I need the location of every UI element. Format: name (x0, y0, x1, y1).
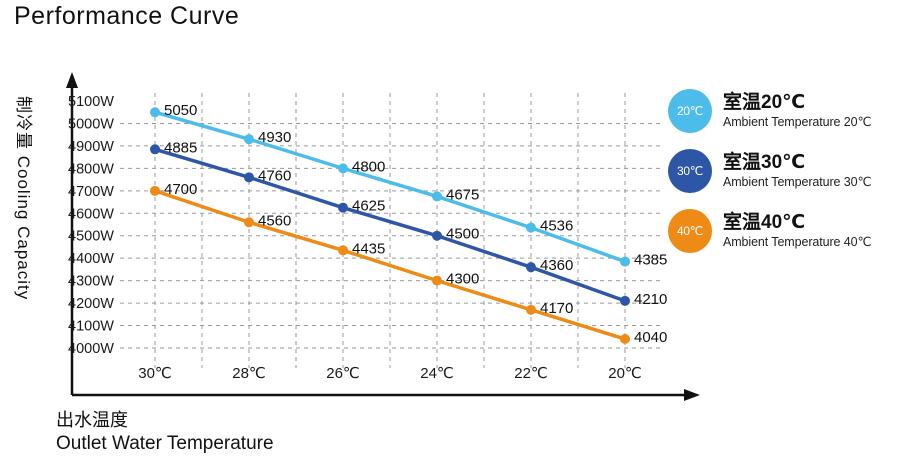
data-point-label: 4170 (540, 300, 573, 317)
data-point-marker (526, 223, 536, 233)
x-tick-label: 26℃ (326, 365, 360, 382)
data-point-label: 4536 (540, 218, 573, 235)
y-tick-label: 4300W (68, 274, 114, 290)
data-point-marker (244, 217, 254, 227)
data-point-label: 4210 (634, 291, 667, 308)
legend-item: 20℃室温20℃Ambient Temperature 20℃ (668, 82, 906, 139)
x-tick-label: 22℃ (514, 365, 548, 382)
data-point-label: 4800 (352, 158, 385, 175)
data-point-marker (150, 186, 160, 196)
data-point-marker (150, 144, 160, 154)
legend-label-cn: 室温30℃ (723, 152, 871, 173)
y-tick-label: 4700W (68, 184, 114, 200)
data-point-marker (338, 203, 348, 213)
data-point-marker (620, 296, 630, 306)
data-point-label: 4500 (446, 226, 479, 243)
legend-badge-icon: 40℃ (668, 209, 712, 253)
data-point-marker (244, 134, 254, 144)
data-series: 505049304800467545364385 (150, 102, 667, 268)
legend-item: 30℃室温30℃Ambient Temperature 30℃ (668, 142, 906, 199)
data-point-label: 4675 (446, 186, 479, 203)
legend-text: 室温20℃Ambient Temperature 20℃ (723, 92, 871, 129)
x-tick-label: 30℃ (138, 365, 172, 382)
data-point-label: 4930 (258, 129, 291, 146)
y-tick-label: 4800W (68, 161, 114, 177)
data-point-label: 4435 (352, 240, 385, 257)
axis-lines (66, 72, 700, 401)
legend-label-en: Ambient Temperature 40℃ (723, 235, 871, 249)
legend-label-en: Ambient Temperature 20℃ (723, 115, 871, 129)
y-tick-label: 4900W (68, 139, 114, 155)
data-point-label: 4385 (634, 252, 667, 269)
data-series: 488547604625450043604210 (150, 139, 667, 308)
legend-badge-icon: 30℃ (668, 149, 712, 193)
data-point-marker (432, 191, 442, 201)
data-point-label: 4040 (634, 329, 667, 346)
data-point-label: 5050 (164, 102, 197, 119)
legend-label-en: Ambient Temperature 30℃ (723, 175, 871, 189)
data-point-marker (338, 163, 348, 173)
data-point-marker (432, 276, 442, 286)
legend-text: 室温40℃Ambient Temperature 40℃ (723, 212, 871, 249)
legend-badge-icon: 20℃ (668, 89, 712, 133)
legend-item: 40℃室温40℃Ambient Temperature 40℃ (668, 202, 906, 259)
y-tick-label: 5000W (68, 116, 114, 132)
x-axis-title: 出水温度 Outlet Water Temperature (56, 409, 274, 456)
grid-lines (120, 93, 660, 368)
data-point-marker (526, 262, 536, 272)
y-tick-label: 4100W (68, 319, 114, 335)
y-tick-labels: 5100W5000W4900W4800W4700W4600W4500W4400W… (68, 94, 114, 357)
x-axis-title-en: Outlet Water Temperature (56, 432, 274, 456)
data-point-label: 4360 (540, 257, 573, 274)
legend-label-cn: 室温40℃ (723, 212, 871, 233)
y-tick-label: 4000W (68, 341, 114, 357)
y-tick-label: 4500W (68, 229, 114, 245)
data-point-marker (432, 231, 442, 241)
legend: 20℃室温20℃Ambient Temperature 20℃30℃室温30℃A… (668, 82, 906, 262)
y-axis-title: 制冷量 Cooling Capacity (13, 96, 38, 396)
data-point-label: 4560 (258, 212, 291, 229)
x-tick-label: 24℃ (420, 365, 454, 382)
y-tick-label: 4200W (68, 296, 114, 312)
data-point-marker (244, 172, 254, 182)
y-tick-label: 5100W (68, 94, 114, 110)
y-tick-label: 4600W (68, 206, 114, 222)
data-point-marker (620, 257, 630, 267)
x-tick-label: 20℃ (608, 365, 642, 382)
legend-label-cn: 室温20℃ (723, 92, 871, 113)
data-point-label: 4885 (164, 139, 197, 156)
data-point-marker (620, 334, 630, 344)
data-series: 470045604435430041704040 (150, 181, 667, 346)
data-point-label: 4760 (258, 167, 291, 184)
data-point-label: 4625 (352, 198, 385, 215)
y-tick-label: 4400W (68, 251, 114, 267)
x-axis-title-cn: 出水温度 (56, 409, 274, 432)
data-point-label: 4300 (446, 271, 479, 288)
data-point-label: 4700 (164, 181, 197, 198)
data-point-marker (338, 245, 348, 255)
x-tick-label: 28℃ (232, 365, 266, 382)
legend-text: 室温30℃Ambient Temperature 30℃ (723, 152, 871, 189)
data-point-marker (526, 305, 536, 315)
data-point-marker (150, 107, 160, 117)
